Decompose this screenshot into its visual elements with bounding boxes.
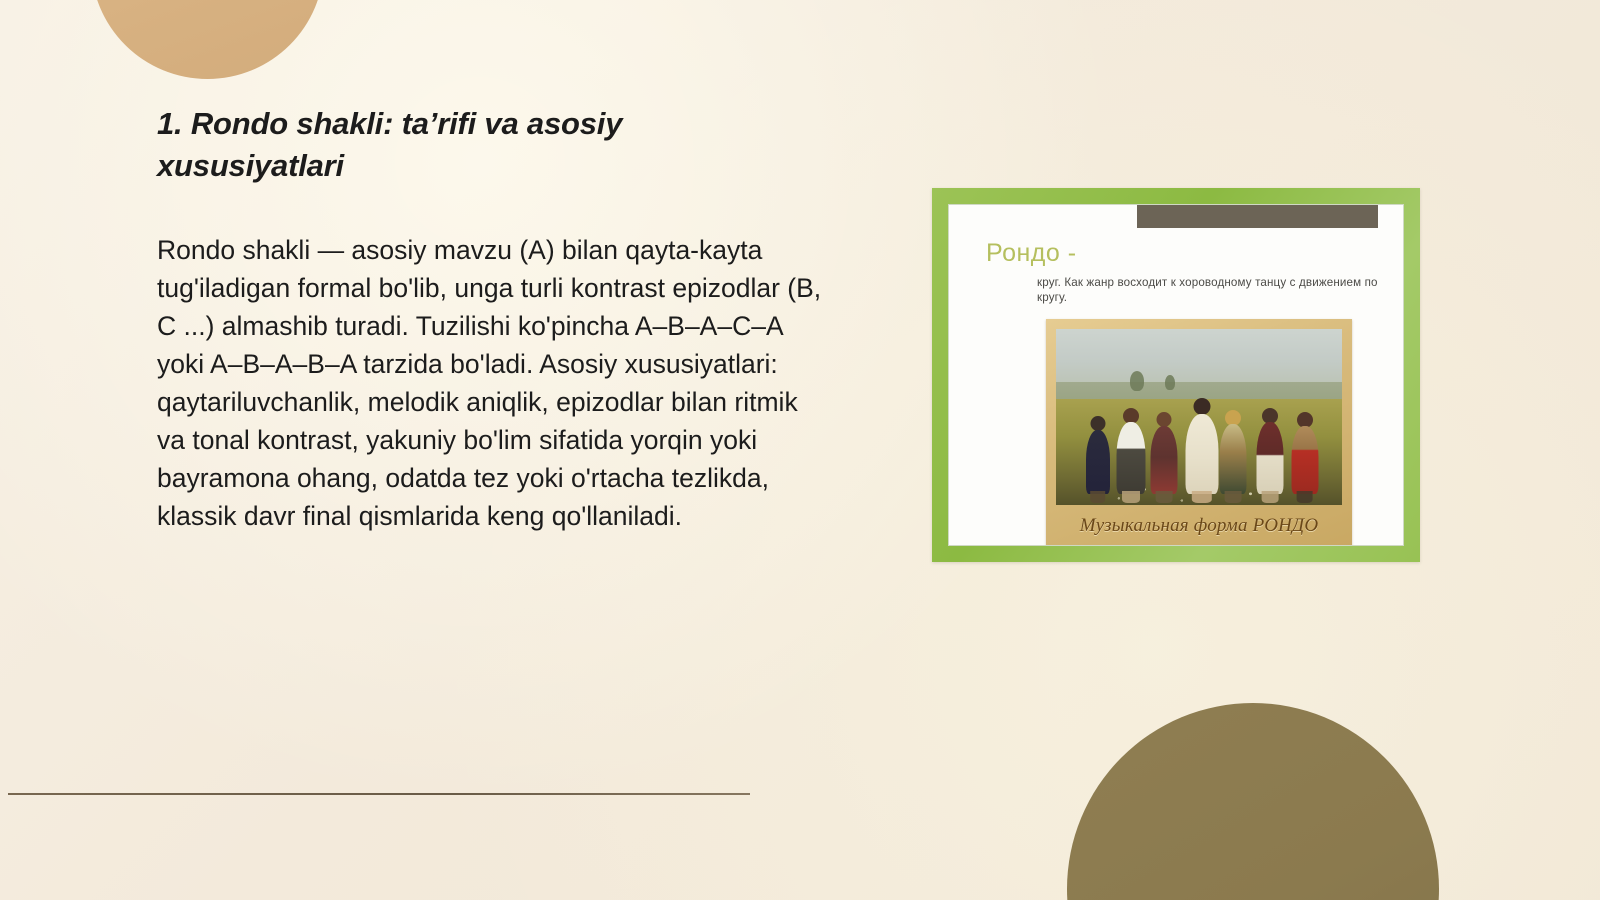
page-title: 1. Rondo shakli: ta’rifi va asosiy xusus… — [157, 103, 737, 187]
bottom-divider-rule — [8, 793, 750, 795]
decorative-circle-bottom-right — [1067, 703, 1439, 900]
text-column: 1. Rondo shakli: ta’rifi va asosiy xusus… — [157, 103, 829, 535]
picture-inner-slide: Рондо - круг. Как жанр восходит к хорово… — [948, 204, 1404, 546]
painting-figure — [1116, 408, 1146, 494]
painting-figure — [1291, 412, 1319, 494]
inner-slide-subtext: круг. Как жанр восходит к хороводному та… — [1037, 275, 1404, 305]
inner-slide-heading: Рондо - — [986, 239, 1077, 267]
painting-figure — [1185, 398, 1219, 494]
redaction-bar — [1134, 204, 1381, 231]
picture-panel: Рондо - круг. Как жанр восходит к хорово… — [932, 188, 1420, 562]
decorative-circle-top-left — [91, 0, 324, 79]
painting-tree-right — [1165, 375, 1175, 390]
painting-figure — [1085, 416, 1111, 494]
slide-canvas: 1. Rondo shakli: ta’rifi va asosiy xusus… — [0, 0, 1600, 900]
painting-figure — [1150, 412, 1178, 494]
painting-tree-left — [1130, 371, 1144, 391]
painting-figure — [1256, 408, 1284, 494]
painting-khorovod-dance — [1056, 329, 1342, 505]
painting-caption: Музыкальная форма РОНДО — [1046, 505, 1352, 546]
painting-figure — [1219, 410, 1247, 494]
body-paragraph: Rondo shakli — asosiy mavzu (A) bilan qa… — [157, 187, 823, 535]
painting-card: Музыкальная форма РОНДО — [1046, 319, 1352, 546]
